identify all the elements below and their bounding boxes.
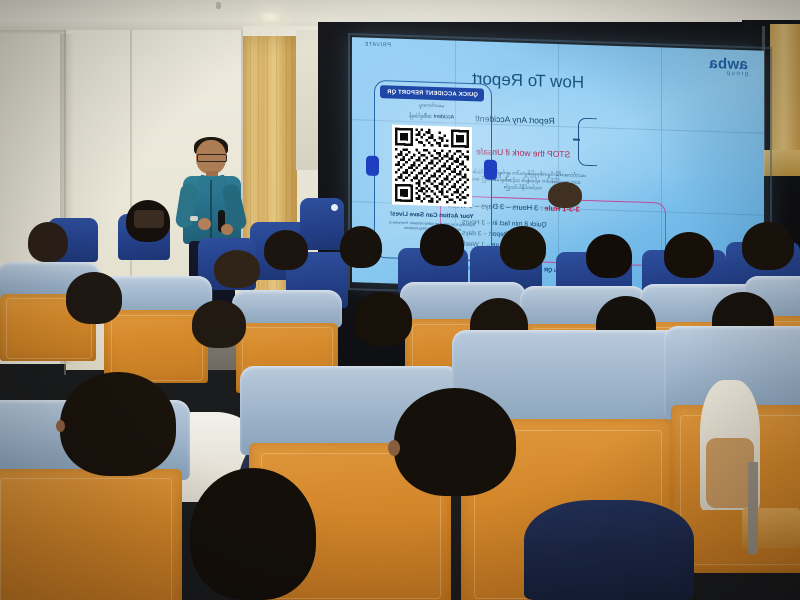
attendee-head-front xyxy=(190,468,316,600)
attendee-head xyxy=(354,292,412,346)
attendee-head xyxy=(192,300,246,348)
awba-logo: awba group xyxy=(709,57,748,77)
attendee-glasses xyxy=(134,210,164,228)
meeting-room-photo: PRIVATE awba group How To Report Report … xyxy=(0,0,800,600)
presenter-shirt-placket xyxy=(210,180,212,242)
slide-classification: PRIVATE xyxy=(364,42,391,49)
attendee-head xyxy=(66,272,122,324)
presenter-hand-right xyxy=(221,224,233,235)
attendee-ear xyxy=(388,440,400,456)
eyeglasses-icon xyxy=(197,154,227,162)
attendee-jacket xyxy=(524,500,694,600)
attendee-head xyxy=(586,234,632,278)
attendee-head-front xyxy=(394,388,516,496)
attendee-right-arm xyxy=(706,438,754,508)
attendee-head xyxy=(664,232,714,278)
brace-icon xyxy=(578,118,597,167)
qr-card-tab-left xyxy=(366,156,379,176)
attendee-ear xyxy=(56,420,65,432)
qr-code-icon xyxy=(392,124,472,207)
attendee-head xyxy=(500,226,546,270)
attendee-head xyxy=(742,222,794,270)
seat-divider xyxy=(748,462,758,554)
attendee-head xyxy=(214,250,260,288)
qr-card-tab-right xyxy=(484,160,497,180)
attendee-head xyxy=(28,222,68,262)
wristwatch-icon xyxy=(190,216,198,221)
attendee-head xyxy=(264,230,308,270)
ceiling-downlight xyxy=(257,12,283,24)
attendee-head xyxy=(420,224,464,266)
presenter-hand-left xyxy=(198,218,211,230)
attendee-head-front xyxy=(60,372,176,476)
sprinkler-head-icon xyxy=(216,2,221,9)
attendee-head xyxy=(340,226,382,268)
attendee-head xyxy=(548,182,582,208)
